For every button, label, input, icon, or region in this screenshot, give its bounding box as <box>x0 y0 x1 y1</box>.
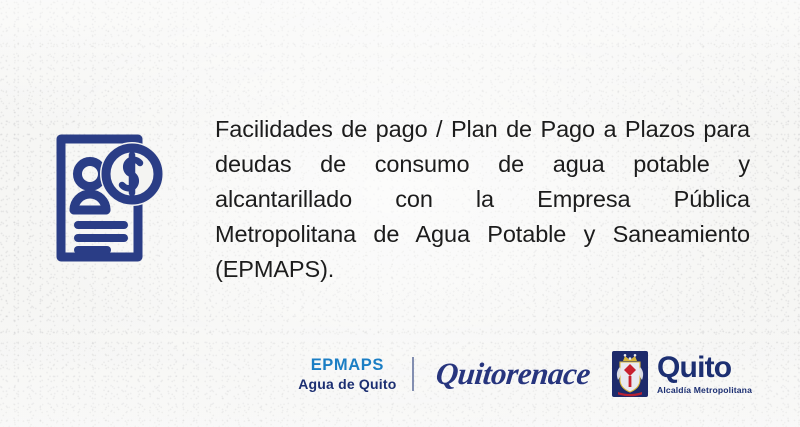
epmaps-wordmark: EPMAPS <box>298 357 396 374</box>
epmaps-logo: EPMAPS Agua de Quito <box>298 357 412 391</box>
quito-municipality-logo: Quito Alcaldía Metropolitana <box>612 351 752 397</box>
footer-logo-bar: EPMAPS Agua de Quito Quitorenace <box>0 351 800 397</box>
text-cell: Facilidades de pago / Plan de Pago a Pla… <box>215 112 760 287</box>
quito-wordmark: Quito <box>657 353 752 383</box>
main-content-row: Facilidades de pago / Plan de Pago a Pla… <box>0 112 800 287</box>
quito-coat-of-arms-icon <box>612 351 648 397</box>
headline-text: Facilidades de pago / Plan de Pago a Pla… <box>215 112 750 287</box>
quito-subtitle: Alcaldía Metropolitana <box>657 386 752 395</box>
logo-divider <box>412 357 414 391</box>
poster-canvas: Facilidades de pago / Plan de Pago a Pla… <box>0 0 800 427</box>
epmaps-tagline: Agua de Quito <box>298 377 396 391</box>
document-person-money-icon <box>52 130 164 271</box>
icon-cell <box>0 112 215 271</box>
quito-wordmark-group: Quito Alcaldía Metropolitana <box>657 353 752 395</box>
quitorenace-logo: Quitorenace <box>428 356 614 392</box>
